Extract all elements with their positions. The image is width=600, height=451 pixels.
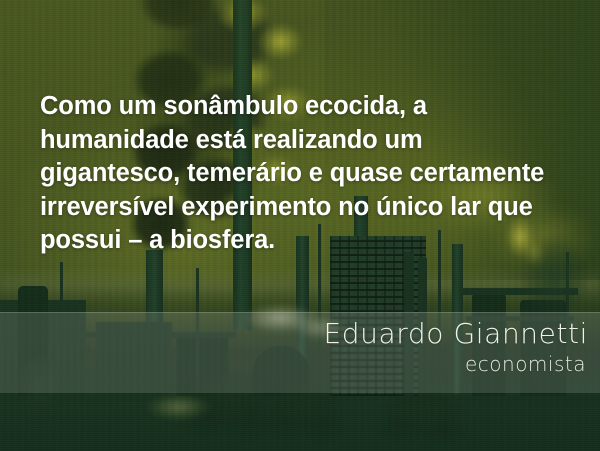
quote-text: Como um sonâmbulo ecocida, a humanidade … bbox=[40, 90, 568, 258]
quote-poster: Como um sonâmbulo ecocida, a humanidade … bbox=[0, 0, 600, 451]
author-name: Eduardo Giannetti bbox=[324, 318, 588, 350]
author-role: economista bbox=[465, 352, 586, 376]
tree-cluster-right bbox=[374, 392, 470, 451]
